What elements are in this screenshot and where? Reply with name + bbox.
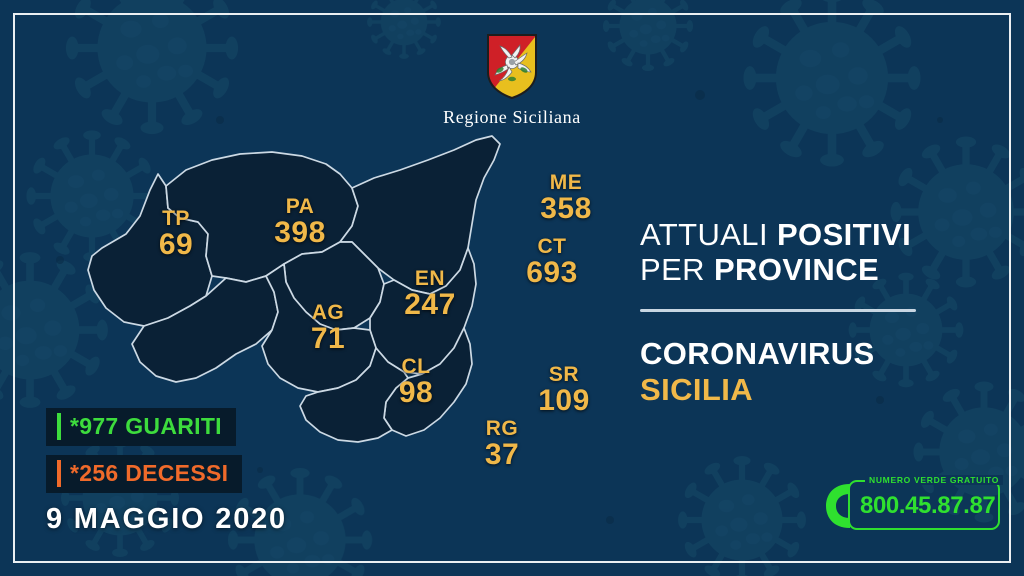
province-label-tp: TP 69 [136,208,216,260]
subtitle-coronavirus: CORONAVIRUS [640,336,970,372]
stat-badge-deaths[interactable]: *256 DECESSI [46,455,242,493]
deaths-accent-bar [57,460,61,487]
report-date: 9 MAGGIO 2020 [46,503,287,536]
phone-number: 800.45.87.87 [860,492,995,520]
sicily-trinacria-crest-icon [485,32,539,100]
stats-badge-group: *977 GUARITI *256 DECESSI [46,408,242,502]
headline-per: PER [640,252,714,287]
province-label-me: ME 358 [520,172,612,224]
subtitle-sicilia: SICILIA [640,372,970,408]
infographic-canvas: Regione Siciliana [0,0,1024,576]
headline-province: PROVINCE [714,252,879,287]
province-label-sr: SR 109 [518,364,610,416]
phone-badge-label: NUMERO VERDE GRATUITO [865,475,1003,485]
headline-line-2: PER PROVINCE [640,253,970,288]
headline-positivi: POSITIVI [777,217,911,252]
phone-handset-icon [822,480,856,532]
crest-caption: Regione Siciliana [0,107,1024,128]
title-panel: ATTUALI POSITIVI PER PROVINCE CORONAVIRU… [640,218,970,408]
toll-free-number-badge[interactable]: NUMERO VERDE GRATUITO 800.45.87.87 [822,478,1002,534]
province-label-rg: RG 37 [460,418,544,470]
province-label-ct: CT 693 [506,236,598,288]
province-label-ag: AG 71 [288,302,368,354]
header-crest-block: Regione Siciliana [0,32,1024,128]
headline-attuali: ATTUALI [640,217,777,252]
recovered-label: *977 GUARITI [70,413,222,440]
headline-line-1: ATTUALI POSITIVI [640,218,970,253]
panel-divider [640,309,916,312]
province-label-en: EN 247 [384,268,476,320]
deaths-label: *256 DECESSI [70,460,228,487]
province-label-cl: CL 98 [374,356,458,408]
province-label-pa: PA 398 [254,196,346,248]
stat-badge-recovered[interactable]: *977 GUARITI [46,408,236,446]
recovered-accent-bar [57,413,61,440]
